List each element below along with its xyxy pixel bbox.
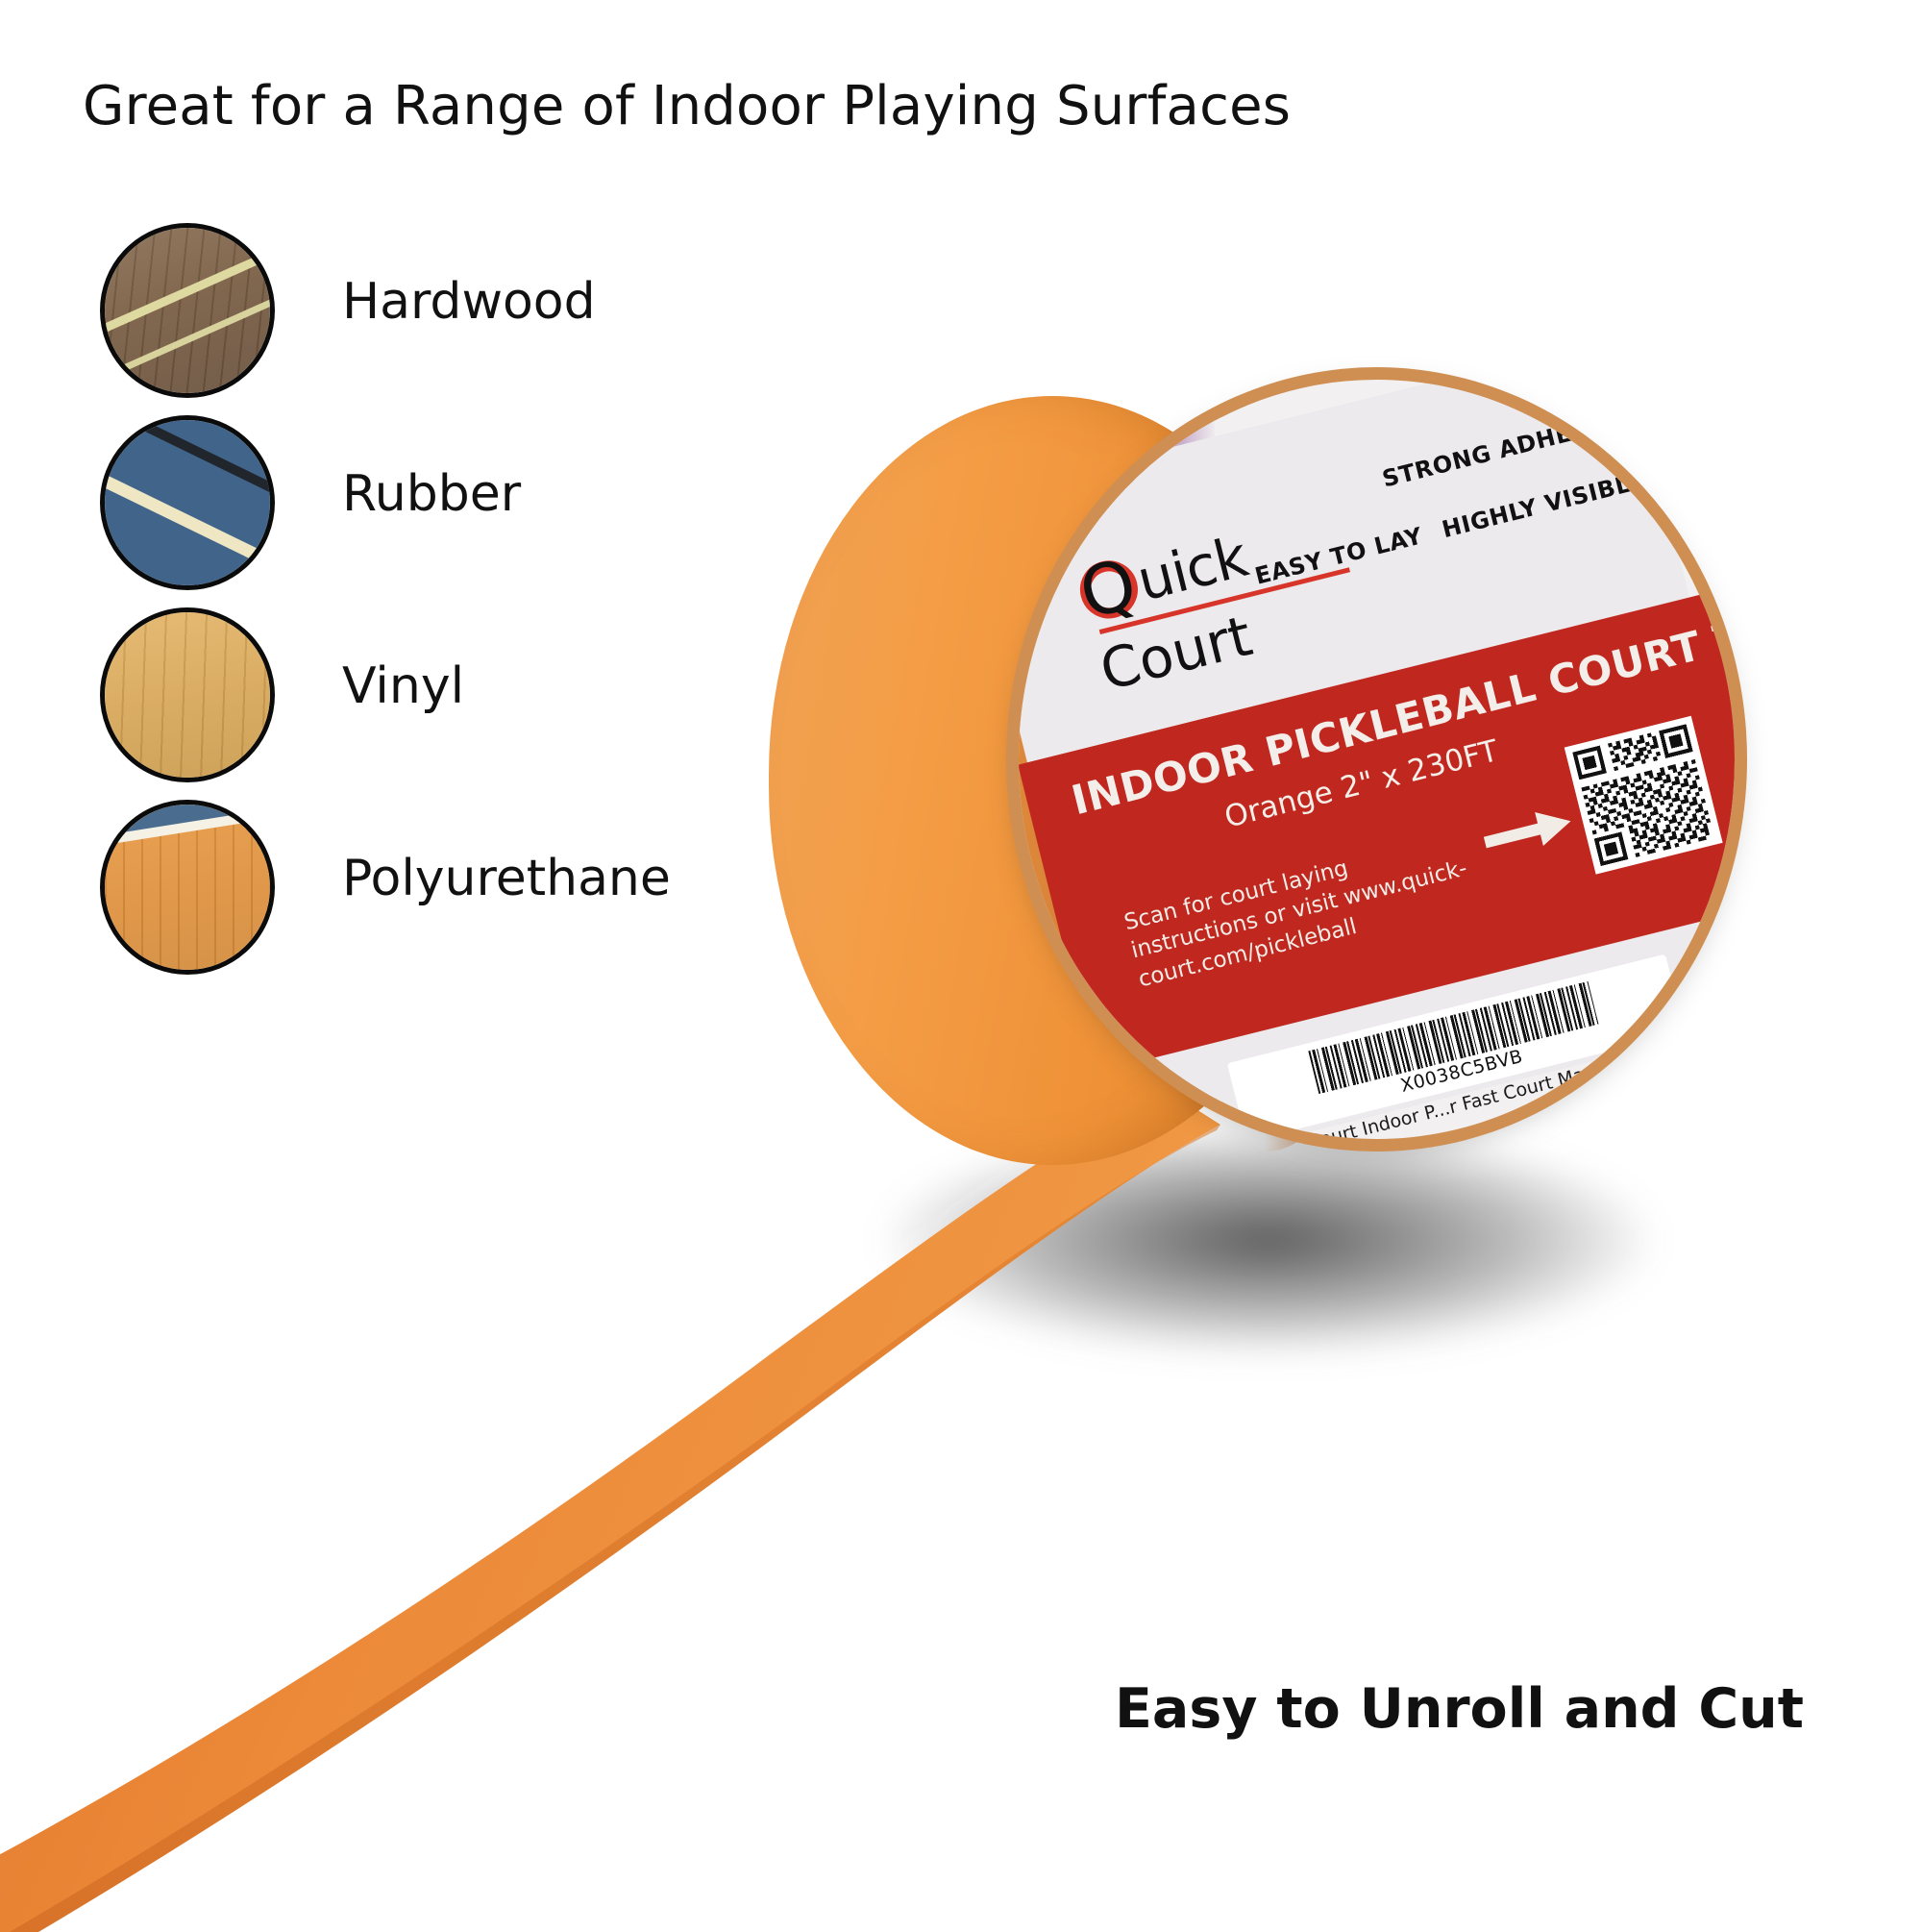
surface-label-polyurethane: Polyurethane [342, 850, 671, 907]
rubber-swatch-icon [100, 415, 275, 590]
list-item: Rubber [100, 415, 830, 607]
scan-instructions: Scan for court laying instructions or vi… [1121, 826, 1478, 994]
list-item: Hardwood [100, 223, 830, 415]
list-item: Polyurethane [100, 800, 830, 992]
hardwood-swatch-icon [100, 223, 275, 398]
list-item: Vinyl [100, 607, 830, 800]
polyurethane-swatch-icon [100, 800, 275, 975]
arrow-right-icon [1480, 803, 1575, 861]
tape-roll-face: Q uick Court STRONG ADHESIVE EASY TO LAY… [1019, 380, 1735, 1139]
page-title: Great for a Range of Indoor Playing Surf… [83, 75, 1291, 137]
surface-list: Hardwood Rubber Vinyl Polyurethane [100, 223, 830, 992]
product-label: Q uick Court STRONG ADHESIVE EASY TO LAY… [1019, 380, 1735, 1139]
surface-label-vinyl: Vinyl [342, 657, 464, 715]
product-photo: Q uick Court STRONG ADHESIVE EASY TO LAY… [826, 452, 1922, 1922]
unrolled-tape-strip [0, 1067, 1326, 1932]
qr-code-icon[interactable] [1565, 716, 1723, 875]
surface-label-rubber: Rubber [342, 465, 521, 523]
vinyl-swatch-icon [100, 607, 275, 782]
surface-label-hardwood: Hardwood [342, 273, 596, 331]
